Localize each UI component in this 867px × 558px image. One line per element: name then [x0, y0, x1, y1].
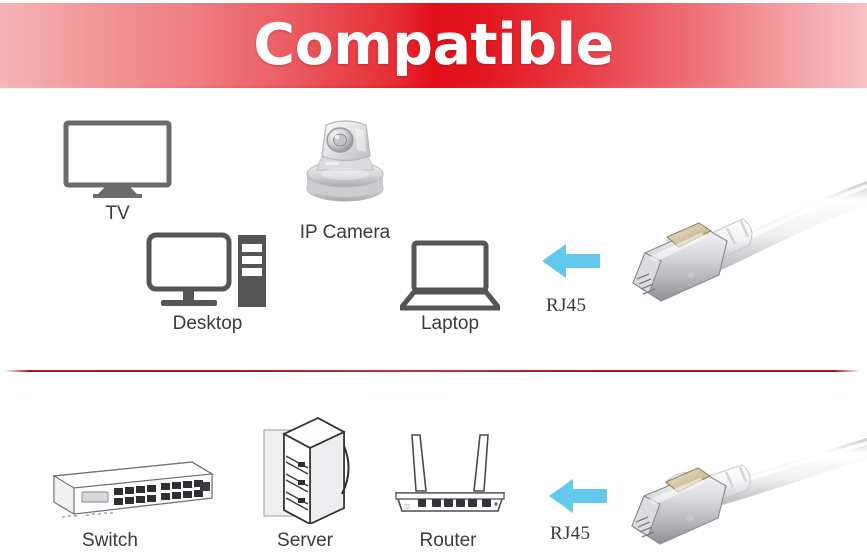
compatibility-infographic: Compatible TV — [0, 0, 867, 558]
page-title: Compatible — [253, 17, 613, 74]
rj45-ethernet-cable — [615, 175, 867, 335]
ip-camera-label: IP Camera — [275, 222, 415, 244]
section-divider — [4, 370, 860, 372]
wifi-router-icon — [390, 425, 510, 521]
banner-header: Compatible — [0, 3, 867, 88]
tv-icon — [60, 120, 175, 200]
server-label: Server — [245, 530, 365, 552]
ip-camera-icon — [295, 112, 395, 204]
rj45-arrow-top — [540, 240, 602, 282]
server-rack-icon — [262, 412, 350, 524]
desktop-computer-icon — [145, 232, 270, 314]
server-device — [262, 412, 350, 522]
rj45-cable-bottom — [600, 438, 867, 558]
rj45-ethernet-cable — [600, 438, 867, 558]
laptop-icon — [400, 240, 500, 312]
tv-label: TV — [60, 203, 175, 225]
tv-device — [60, 120, 175, 200]
rj45-label-bottom: RJ45 — [550, 523, 590, 545]
rj45-label-top: RJ45 — [546, 295, 586, 317]
rj45-cable-top — [615, 175, 867, 335]
laptop-device — [400, 240, 500, 310]
desktop-device — [145, 232, 270, 312]
laptop-label: Laptop — [390, 313, 510, 335]
arrow-left-icon — [540, 240, 602, 282]
switch-label: Switch — [45, 530, 175, 552]
ip-camera-device — [295, 112, 395, 202]
switch-device — [32, 452, 217, 527]
desktop-label: Desktop — [140, 313, 275, 335]
router-label: Router — [388, 530, 508, 552]
router-device — [390, 425, 510, 520]
network-switch-icon — [32, 452, 217, 528]
